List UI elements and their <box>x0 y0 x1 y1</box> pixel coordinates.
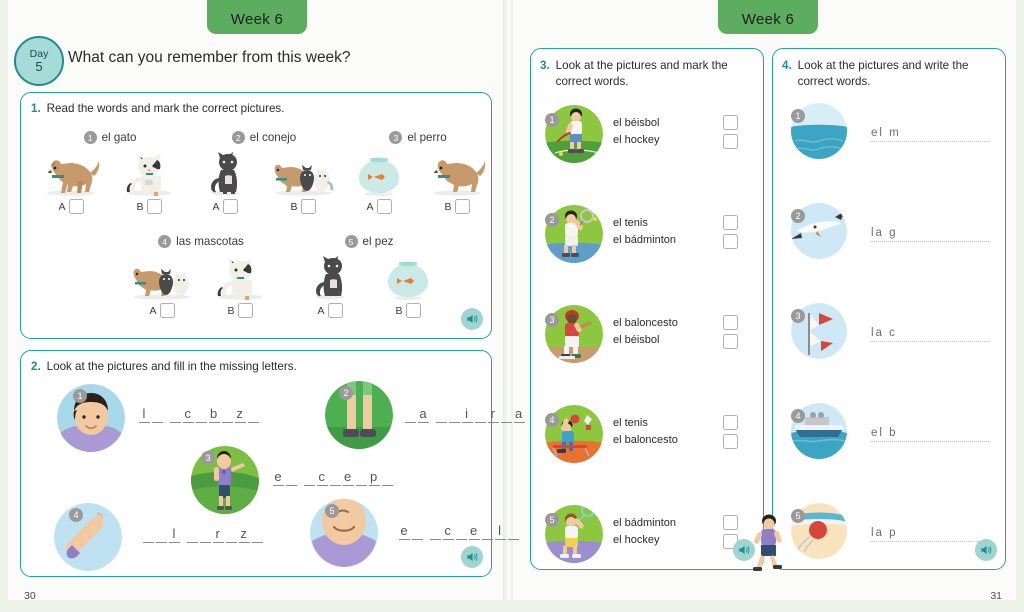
ex3-item-1-options: el béisbol el hockey <box>613 115 659 149</box>
ex1-item-3-options: A B <box>343 199 493 214</box>
ex1-item-4-option-a-label: A <box>149 305 156 317</box>
exercise-2: 2. Look at the pictures and fill in the … <box>20 350 492 577</box>
legs-illustration <box>325 381 393 449</box>
ex1-item-3-option-b[interactable]: B <box>424 199 490 214</box>
ex4-item-5-answer[interactable]: la p <box>871 527 989 542</box>
speaker-icon[interactable] <box>461 308 483 330</box>
cat-illustration <box>116 148 182 196</box>
ex2-i2-l9: a <box>514 406 525 423</box>
exercise-1-number: 1. <box>31 102 41 115</box>
fishbowl-illustration <box>346 148 412 196</box>
ex1-item-5-checkbox-b[interactable] <box>406 303 421 318</box>
ex4-item-1-number: 1 <box>791 109 805 123</box>
ex2-i2-l8: _ <box>501 406 512 423</box>
ex2-i2-l6: _ <box>475 406 486 423</box>
dog-illustration <box>424 148 490 196</box>
ex3-item-2: el tenis el bádminton 2 <box>541 201 753 293</box>
week-tab-right-label: Week 6 <box>742 11 794 28</box>
ex3-item-2-option-1[interactable]: el tenis <box>613 215 676 232</box>
ex2-i1-l7: _ <box>222 406 233 423</box>
ex3-item-1: el béisbol el hockey 1 <box>541 101 753 193</box>
ex1-item-2-checkbox-a[interactable] <box>223 199 238 214</box>
ex2-i1-l9: _ <box>248 406 259 423</box>
ex4-item-1-seed: el m <box>871 127 989 139</box>
ex1-item-1-checkbox-b[interactable] <box>147 199 162 214</box>
ex1-item-4-checkbox-a[interactable] <box>160 303 175 318</box>
ex3-item-2-checkbox-1[interactable] <box>723 215 738 230</box>
ex2-item-4-blanks[interactable]: __l __r_z_ <box>143 526 265 543</box>
head-face-illustration <box>57 384 125 452</box>
ex4-item-3: la c 3 <box>783 301 995 396</box>
ex1-item-4-option-b-label: B <box>227 305 234 317</box>
ex3-item-4-option-1[interactable]: el tenis <box>613 415 678 432</box>
ex1-item-2-number: 2 <box>232 131 245 144</box>
ex1-item-1-option-a[interactable]: A <box>38 199 104 214</box>
ex1-item-5-option-b-label: B <box>395 305 402 317</box>
ex1-item-4-option-b[interactable]: B <box>207 303 273 318</box>
ex2-i2-l2: a <box>418 406 429 423</box>
ex1-item-2-options: A B <box>189 199 339 214</box>
ex1-item-3-pictures <box>343 148 493 196</box>
ex3-item-3: el baloncesto el béisbol 3 <box>541 301 753 393</box>
ex1-item-3-option-a[interactable]: A <box>346 199 412 214</box>
ex4-item-1: el m 1 <box>783 101 995 196</box>
ex4-item-4-answer[interactable]: el b <box>871 427 989 442</box>
ex3-item-2-checkbox-2[interactable] <box>723 234 738 249</box>
exercise-4-prompt: Look at the pictures and write the corre… <box>798 58 992 89</box>
ex2-i5-l4: c <box>443 523 454 540</box>
exercise-3-heading: 3. Look at the pictures and mark the cor… <box>540 58 750 89</box>
day-badge-number: 5 <box>35 60 42 73</box>
ex1-item-3: 3 el perro <box>343 131 493 214</box>
ex2-i1-l2: _ <box>152 406 163 423</box>
ex1-item-5-options: A B <box>289 303 449 318</box>
ex2-item-1-blanks[interactable]: l_ _c_b_z_ <box>139 406 261 423</box>
mouth-face-illustration <box>310 499 378 567</box>
ex1-item-4-label: 4 las mascotas <box>121 235 281 248</box>
ex4-item-4-writing-line <box>871 441 989 442</box>
ex2-i5-l6: e <box>469 523 480 540</box>
ex4-item-5-seed: la p <box>871 527 989 539</box>
ex2-i3-l1: e <box>273 469 284 486</box>
ex2-i3-l3: _ <box>304 469 315 486</box>
speaker-icon[interactable] <box>461 546 483 568</box>
ex2-item-1-number: 1 <box>73 389 87 403</box>
week-tab-left: Week 6 <box>207 0 307 34</box>
ex3-item-4-number: 4 <box>545 413 559 427</box>
ex4-item-1-answer[interactable]: el m <box>871 127 989 142</box>
ex4-item-5: la p 5 <box>783 501 995 596</box>
ex1-item-2-option-a[interactable]: A <box>192 199 258 214</box>
ex2-i2-l7: r <box>488 406 499 423</box>
ex1-item-3-number: 3 <box>389 131 402 144</box>
ex2-item-2-blanks[interactable]: _a __i_r_a <box>405 406 527 423</box>
ex1-item-2-pictures <box>189 148 339 196</box>
ex1-item-5-option-b[interactable]: B <box>375 303 441 318</box>
ex1-item-5-checkbox-a[interactable] <box>328 303 343 318</box>
ex2-i5-l1: e <box>399 523 410 540</box>
ex3-item-5-option-1[interactable]: el bádminton <box>613 515 676 532</box>
pets-group-illustration <box>270 148 336 196</box>
ex1-item-1-pictures <box>35 148 185 196</box>
ex3-item-1-checkboxes <box>723 115 738 153</box>
ex2-i3-l6: e <box>343 469 354 486</box>
ex1-item-4-word: las mascotas <box>176 235 244 248</box>
exercise-4: 4. Look at the pictures and write the co… <box>772 48 1006 570</box>
week-tab-right: Week 6 <box>718 0 818 34</box>
ex4-item-2: la g 2 <box>783 201 995 296</box>
ex1-item-1-option-b[interactable]: B <box>116 199 182 214</box>
dog-illustration <box>38 148 104 196</box>
ex2-i5-l3: _ <box>430 523 441 540</box>
ex2-i4-l1: _ <box>143 526 154 543</box>
ex4-item-4: el b 4 <box>783 401 995 496</box>
ex3-item-4-options: el tenis el baloncesto <box>613 415 678 449</box>
ex2-i5-l5: _ <box>456 523 467 540</box>
ex3-item-1-number: 1 <box>545 113 559 127</box>
ex3-item-3-option-1[interactable]: el baloncesto <box>613 315 678 332</box>
ex1-item-2-label: 2 el conejo <box>189 131 339 144</box>
ex4-item-1-writing-line <box>871 141 989 142</box>
ex1-item-4-option-a[interactable]: A <box>129 303 195 318</box>
cat-sitting-illustration <box>192 148 258 196</box>
ex3-item-5-checkbox-1[interactable] <box>723 515 738 530</box>
ex4-item-2-answer[interactable]: la g <box>871 227 989 242</box>
ex2-i2-l4: _ <box>449 406 460 423</box>
ex2-i3-l4: c <box>317 469 328 486</box>
ex2-i2-l5: i <box>462 406 473 423</box>
exercise-2-number: 2. <box>31 360 41 373</box>
ex4-item-2-seed: la g <box>871 227 989 239</box>
ex3-item-5-number: 5 <box>545 513 559 527</box>
book-gutter <box>503 0 513 600</box>
ex2-i4-l4: _ <box>187 526 198 543</box>
ex2-i4-l2: _ <box>156 526 167 543</box>
day-badge: Day 5 <box>14 36 64 86</box>
ex2-i1-l1: l <box>139 406 150 423</box>
ex1-item-4-checkbox-b[interactable] <box>238 303 253 318</box>
ex1-item-5-number: 5 <box>345 235 358 248</box>
ex2-i5-l7: _ <box>482 523 493 540</box>
ex1-item-3-checkbox-b[interactable] <box>455 199 470 214</box>
ex1-item-1-number: 1 <box>84 131 97 144</box>
worksheet-spread: Week 6 Week 6 Day 5 What can you remembe… <box>0 0 1024 612</box>
week-tab-left-label: Week 6 <box>231 11 283 28</box>
ex1-item-3-word: el perro <box>407 131 446 144</box>
ex2-i2-l3: _ <box>436 406 447 423</box>
ex2-i5-l9: _ <box>508 523 519 540</box>
ex3-item-3-checkbox-1[interactable] <box>723 315 738 330</box>
ex2-item-3-number: 3 <box>201 451 215 465</box>
exercise-1-prompt: Read the words and mark the correct pict… <box>47 102 285 115</box>
exercise-3-prompt: Look at the pictures and mark the correc… <box>556 58 750 89</box>
ex2-i4-l5: _ <box>200 526 211 543</box>
ex2-item-5-blanks[interactable]: e_ _c_e_l_ <box>399 523 521 540</box>
ex3-item-2-number: 2 <box>545 213 559 227</box>
ex1-item-1-option-b-label: B <box>136 201 143 213</box>
ex3-item-1-option-2[interactable]: el hockey <box>613 132 659 149</box>
exercise-3-number: 3. <box>540 58 550 89</box>
ex1-item-2-option-a-label: A <box>212 201 219 213</box>
ex2-i1-l6: b <box>209 406 220 423</box>
ex2-i2-l1: _ <box>405 406 416 423</box>
ex4-item-5-writing-line <box>871 541 989 542</box>
ex2-item-3-blanks[interactable]: e_ _c_e_p_ <box>273 469 395 486</box>
ex3-item-1-checkbox-1[interactable] <box>723 115 738 130</box>
ex1-item-1-word: el gato <box>102 131 137 144</box>
ex1-item-1-option-a-label: A <box>58 201 65 213</box>
exercise-4-number: 4. <box>782 58 792 89</box>
ex3-item-3-options: el baloncesto el béisbol <box>613 315 678 349</box>
exercise-1-heading: 1. Read the words and mark the correct p… <box>31 102 284 115</box>
ex3-item-3-number: 3 <box>545 313 559 327</box>
ex1-item-1: 1 el gato <box>35 131 185 214</box>
ex4-item-4-seed: el b <box>871 427 989 439</box>
ex2-i5-l2: _ <box>412 523 423 540</box>
ex1-item-2-word: el conejo <box>250 131 296 144</box>
ex4-item-3-seed: la c <box>871 327 989 339</box>
ex4-item-4-number: 4 <box>791 409 805 423</box>
ex3-item-3-option-2[interactable]: el béisbol <box>613 332 678 349</box>
ex2-i4-l8: z <box>239 526 250 543</box>
ex1-item-4: 4 las mascotas <box>121 235 281 318</box>
ex2-item-2-number: 2 <box>339 386 353 400</box>
ex1-item-1-checkbox-a[interactable] <box>69 199 84 214</box>
ex1-item-2-option-b-label: B <box>290 201 297 213</box>
ex3-item-4-checkbox-1[interactable] <box>723 415 738 430</box>
exercise-4-heading: 4. Look at the pictures and write the co… <box>782 58 992 89</box>
exercise-2-heading: 2. Look at the pictures and fill in the … <box>31 360 297 373</box>
ex1-item-5-pictures <box>289 252 449 300</box>
ex3-item-5-options: el bádminton el hockey <box>613 515 676 549</box>
cat-sitting-illustration <box>297 252 363 300</box>
ex3-item-4-checkboxes <box>723 415 738 453</box>
ex3-item-3-checkboxes <box>723 315 738 353</box>
ex4-item-3-answer[interactable]: la c <box>871 327 989 342</box>
exercise-1: 1. Read the words and mark the correct p… <box>20 92 492 339</box>
ex2-i3-l5: _ <box>330 469 341 486</box>
ex1-item-4-pictures <box>121 252 281 300</box>
ex1-item-1-label: 1 el gato <box>35 131 185 144</box>
ex2-i4-l3: l <box>169 526 180 543</box>
running-boy-decoration <box>745 512 791 574</box>
ex2-i4-l7: _ <box>226 526 237 543</box>
ex2-i4-l6: r <box>213 526 224 543</box>
ex4-item-3-number: 3 <box>791 309 805 323</box>
ex4-item-5-number: 5 <box>791 509 805 523</box>
speaker-icon[interactable] <box>975 539 997 561</box>
ex3-item-5-option-2[interactable]: el hockey <box>613 532 676 549</box>
ex2-item-5-number: 5 <box>325 504 339 518</box>
ex2-i3-l2: _ <box>286 469 297 486</box>
ex4-item-2-writing-line <box>871 241 989 242</box>
ex1-item-5-option-a[interactable]: A <box>297 303 363 318</box>
ex1-item-2-option-b[interactable]: B <box>270 199 336 214</box>
ex3-item-3-checkbox-2[interactable] <box>723 334 738 349</box>
ex2-i3-l7: _ <box>356 469 367 486</box>
arm-illustration <box>54 503 122 571</box>
ex2-i4-l9: _ <box>252 526 263 543</box>
ex2-i1-l8: z <box>235 406 246 423</box>
ex2-i3-l8: p <box>369 469 380 486</box>
ex3-item-1-option-1[interactable]: el béisbol <box>613 115 659 132</box>
ex1-item-4-options: A B <box>121 303 281 318</box>
ex4-item-3-writing-line <box>871 341 989 342</box>
ex3-item-1-checkbox-2[interactable] <box>723 134 738 149</box>
ex3-item-2-checkboxes <box>723 215 738 253</box>
ex1-item-2-checkbox-b[interactable] <box>301 199 316 214</box>
page-number-left: 30 <box>24 590 36 602</box>
ex1-item-5-word: el pez <box>363 235 394 248</box>
ex3-item-4-option-2[interactable]: el baloncesto <box>613 432 678 449</box>
page-title: What can you remember from this week? <box>68 49 351 67</box>
ex1-item-3-checkbox-a[interactable] <box>377 199 392 214</box>
ex3-item-2-options: el tenis el bádminton <box>613 215 676 249</box>
ex1-item-5-option-a-label: A <box>317 305 324 317</box>
ex3-item-4: el tenis el baloncesto 4 <box>541 401 753 493</box>
page-number-right: 31 <box>990 590 1002 602</box>
ex2-i3-l9: _ <box>382 469 393 486</box>
exercise-2-prompt: Look at the pictures and fill in the mis… <box>47 360 297 373</box>
ex1-item-5: 5 el pez <box>289 235 449 318</box>
ex1-item-3-option-a-label: A <box>366 201 373 213</box>
ex1-item-3-option-b-label: B <box>444 201 451 213</box>
ex1-item-5-label: 5 el pez <box>289 235 449 248</box>
ex1-item-2: 2 el conejo <box>189 131 339 214</box>
ex2-item-4-number: 4 <box>69 508 83 522</box>
ex2-i1-l5: _ <box>196 406 207 423</box>
ex3-item-2-option-2[interactable]: el bádminton <box>613 232 676 249</box>
pets-group-illustration <box>129 252 195 300</box>
ex1-item-4-number: 4 <box>158 235 171 248</box>
ex3-item-4-checkbox-2[interactable] <box>723 434 738 449</box>
fishbowl-illustration <box>375 252 441 300</box>
ex1-item-3-label: 3 el perro <box>343 131 493 144</box>
ex4-item-2-number: 2 <box>791 209 805 223</box>
ex2-i5-l8: l <box>495 523 506 540</box>
ex1-item-1-options: A B <box>35 199 185 214</box>
exercise-3: 3. Look at the pictures and mark the cor… <box>530 48 764 570</box>
ex2-i1-l4: c <box>183 406 194 423</box>
ex2-i1-l3: _ <box>170 406 181 423</box>
cat-illustration <box>207 252 273 300</box>
ex3-item-5: el bádminton el hockey 5 <box>541 501 753 593</box>
